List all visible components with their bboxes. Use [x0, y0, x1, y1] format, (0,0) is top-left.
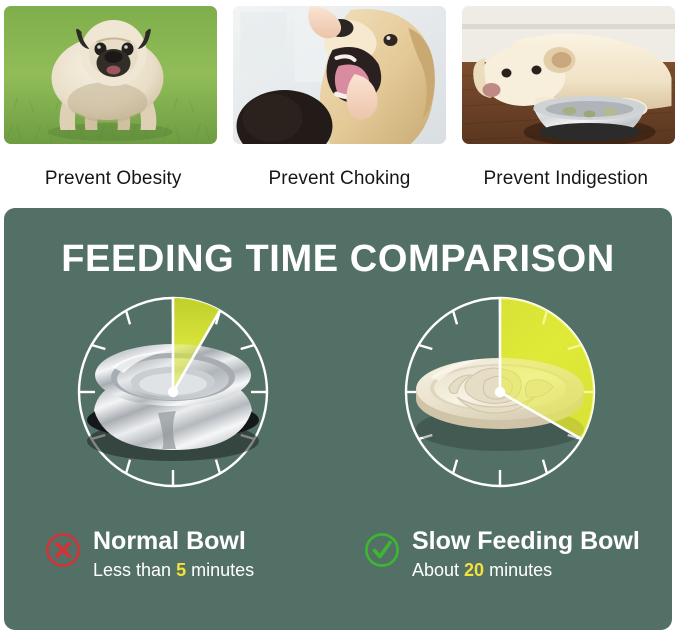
x-circle-icon [44, 531, 82, 569]
result-title-normal-bowl: Normal Bowl [93, 526, 254, 556]
result-sub-value-left: 5 [176, 560, 186, 580]
normal-bowl-gauge [70, 289, 276, 495]
slow-feeding-bowl-gauge [397, 289, 603, 495]
caption-prevent-choking: Prevent Choking [226, 168, 452, 190]
result-sub-slow-feeding-bowl: About 20 minutes [412, 558, 640, 582]
caption-prevent-obesity: Prevent Obesity [0, 168, 226, 190]
result-text-normal-bowl: Normal Bowl Less than 5 minutes [93, 526, 254, 582]
caption-prevent-indigestion: Prevent Indigestion [453, 168, 679, 190]
result-sub-prefix-right: About [412, 560, 464, 580]
feature-cell-obesity [0, 0, 221, 150]
golden-retriever-mouth-exam-photo [233, 6, 446, 144]
feature-image-row [0, 0, 679, 150]
result-title-slow-feeding-bowl: Slow Feeding Bowl [412, 526, 640, 556]
feature-cell-indigestion [458, 0, 679, 150]
result-text-slow-feeding-bowl: Slow Feeding Bowl About 20 minutes [412, 526, 640, 582]
result-normal-bowl: Normal Bowl Less than 5 minutes [4, 526, 353, 612]
result-sub-normal-bowl: Less than 5 minutes [93, 558, 254, 582]
result-sub-suffix-left: minutes [186, 560, 254, 580]
feature-caption-row: Prevent Obesity Prevent Choking Prevent … [0, 150, 679, 208]
feature-cell-choking [229, 0, 450, 150]
gauge-row [4, 289, 672, 499]
panel-title: FEEDING TIME COMPARISON [4, 238, 672, 281]
result-sub-prefix-left: Less than [93, 560, 176, 580]
result-slow-feeding-bowl: Slow Feeding Bowl About 20 minutes [353, 526, 672, 612]
comparison-results: Normal Bowl Less than 5 minutes Slow Fee… [4, 526, 672, 612]
result-sub-suffix-right: minutes [484, 560, 552, 580]
result-sub-value-right: 20 [464, 560, 484, 580]
feeding-time-comparison-panel: FEEDING TIME COMPARISON [4, 208, 672, 630]
check-circle-icon [363, 531, 401, 569]
labrador-lying-beside-bowl-photo [462, 6, 675, 144]
overweight-pug-on-grass-photo [4, 6, 217, 144]
